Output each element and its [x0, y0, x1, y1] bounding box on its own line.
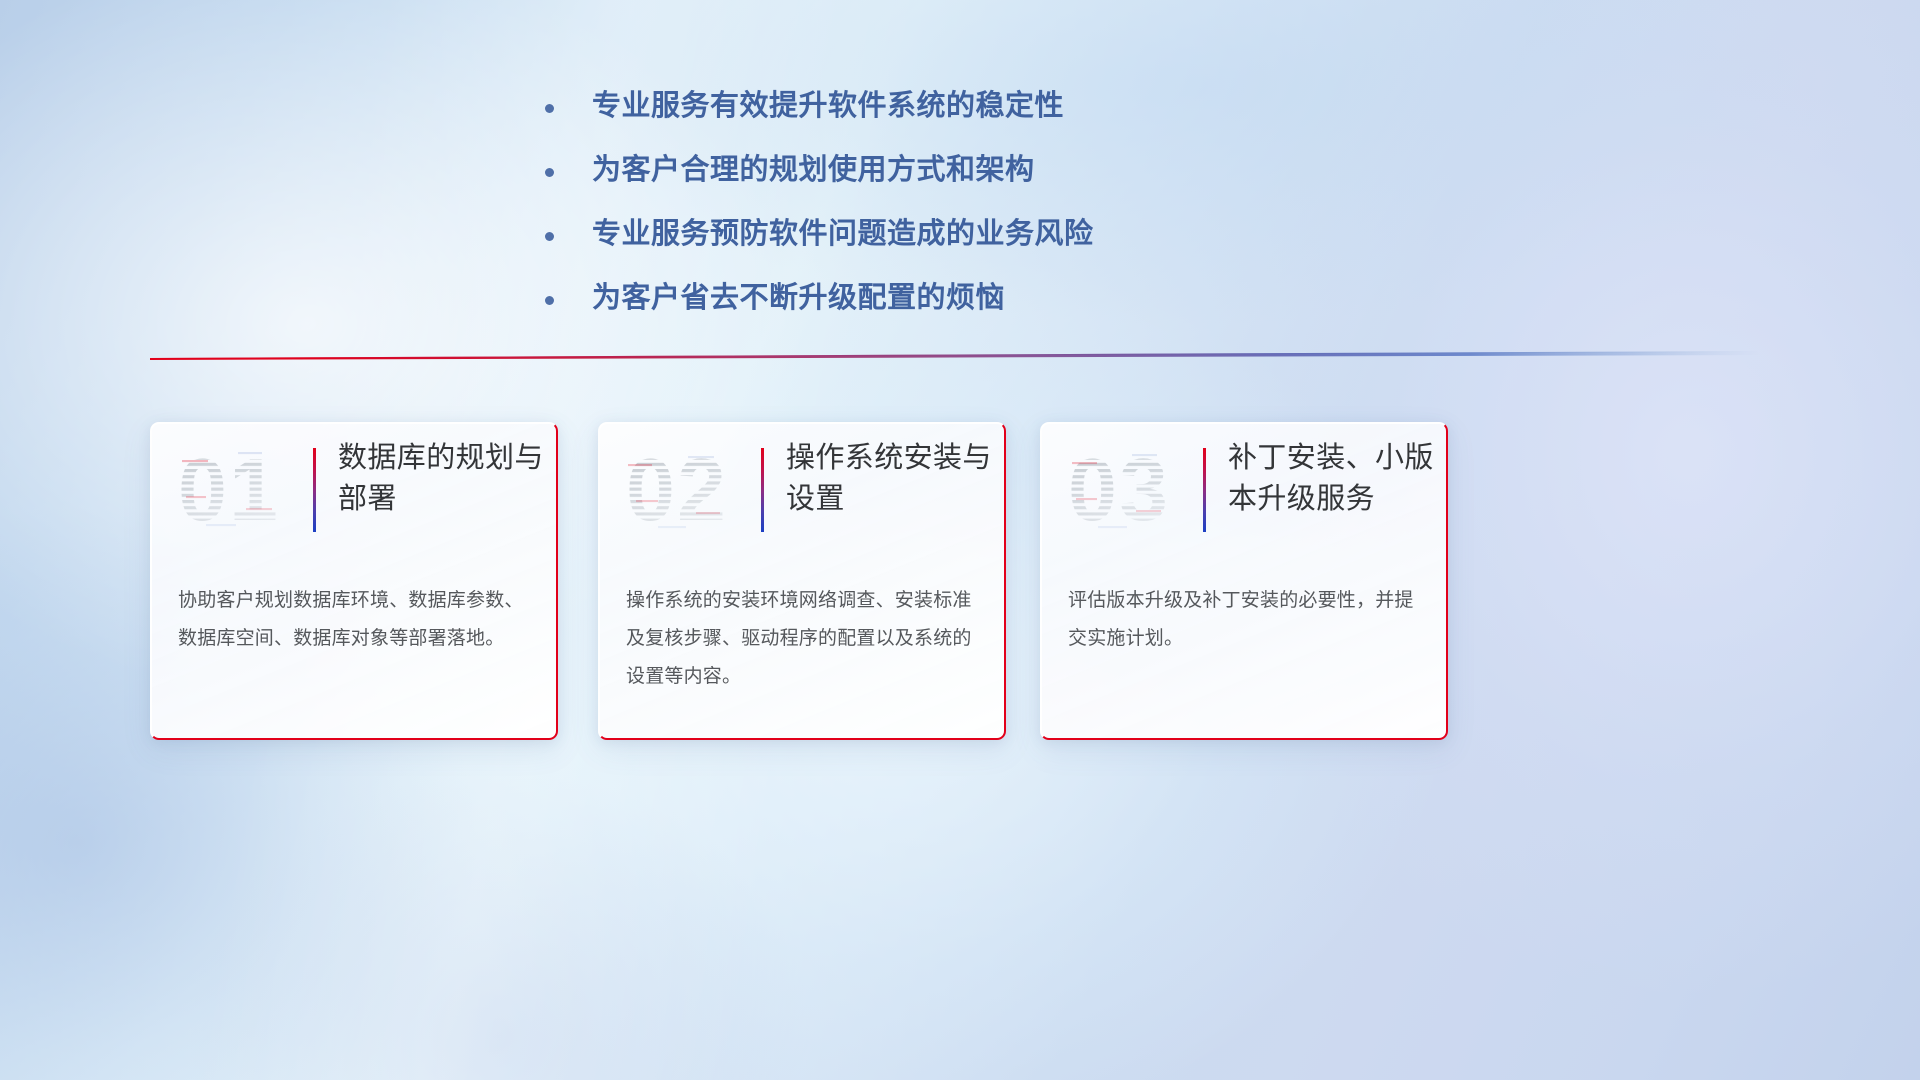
card-description: 操作系统的安装环境网络调查、安装标准及复核步骤、驱动程序的配置以及系统的设置等内…: [626, 582, 988, 696]
card-title: 数据库的规划与部署: [338, 438, 548, 520]
bullet-label: 为客户合理的规划使用方式和架构: [592, 152, 1035, 188]
bullet-dot-icon: [545, 232, 554, 241]
card-number-decoration: 01: [176, 438, 294, 542]
bullet-label: 为客户省去不断升级配置的烦恼: [592, 280, 1005, 316]
card-title: 补丁安装、小版本升级服务: [1228, 438, 1438, 520]
bullet-dot-icon: [545, 296, 554, 305]
bullet-label: 专业服务有效提升软件系统的稳定性: [592, 88, 1064, 124]
card-header: 03 补丁安装、小版本升级服务: [1042, 424, 1446, 556]
card-title-divider: [761, 448, 764, 532]
list-item: 专业服务预防软件问题造成的业务风险: [545, 216, 1445, 268]
slide-canvas: 专业服务有效提升软件系统的稳定性 为客户合理的规划使用方式和架构 专业服务预防软…: [0, 0, 1920, 1080]
card-number-decoration: 03: [1066, 438, 1184, 542]
accent-divider-icon: [150, 346, 1760, 362]
bullet-dot-icon: [545, 104, 554, 113]
accent-divider: [150, 346, 1760, 362]
card-title-divider: [313, 448, 316, 532]
striped-number-03-icon: 03: [1066, 438, 1184, 542]
list-item: 专业服务有效提升软件系统的稳定性: [545, 88, 1445, 140]
bullet-label: 专业服务预防软件问题造成的业务风险: [592, 216, 1094, 252]
striped-number-01-icon: 01: [176, 438, 294, 542]
service-card[interactable]: 02 操作系统安装与设置 操作系统的安装环境网络调查、安装标准及复核步骤、驱动程…: [598, 422, 1006, 740]
service-card[interactable]: 03 补丁安装、小版本升级服务 评估版本升级及补丁安装的必要性，并提交实施计划。: [1040, 422, 1448, 740]
service-card[interactable]: 01 数据库的规划与部署 协助客户规划数据库环境、数据库参数、数据库空间、数据库…: [150, 422, 558, 740]
list-item: 为客户合理的规划使用方式和架构: [545, 152, 1445, 204]
striped-number-02-icon: 02: [624, 438, 742, 542]
card-title-divider: [1203, 448, 1206, 532]
bullet-dot-icon: [545, 168, 554, 177]
benefits-bullet-list: 专业服务有效提升软件系统的稳定性 为客户合理的规划使用方式和架构 专业服务预防软…: [545, 88, 1445, 344]
card-description: 评估版本升级及补丁安装的必要性，并提交实施计划。: [1068, 582, 1430, 658]
card-header: 02 操作系统安装与设置: [600, 424, 1004, 556]
card-number-decoration: 02: [624, 438, 742, 542]
list-item: 为客户省去不断升级配置的烦恼: [545, 280, 1445, 332]
card-description: 协助客户规划数据库环境、数据库参数、数据库空间、数据库对象等部署落地。: [178, 582, 540, 658]
svg-text:02: 02: [626, 440, 728, 539]
card-title: 操作系统安装与设置: [786, 438, 996, 520]
card-header: 01 数据库的规划与部署: [152, 424, 556, 556]
